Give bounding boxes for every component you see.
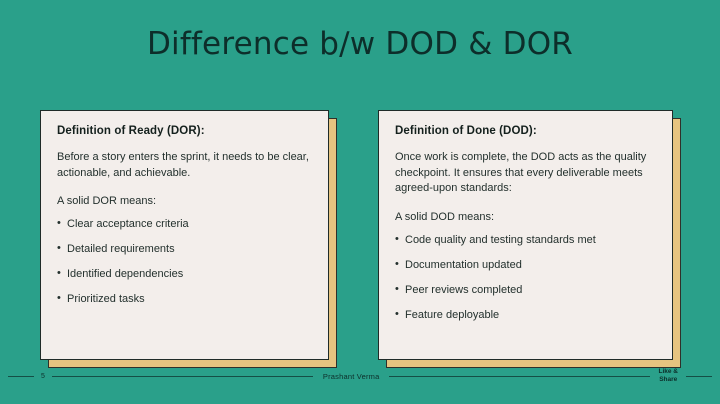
list-item: Documentation updated (395, 258, 656, 272)
card-subheading-dod: A solid DOD means: (395, 211, 656, 223)
footer-rule-start (8, 376, 34, 377)
footer-rule-right (389, 376, 650, 377)
author-name: Prashant Verma (313, 372, 390, 381)
footer-rule-left (52, 376, 313, 377)
footer-rule-end (686, 376, 712, 377)
like-and-share-line-1: Like & (658, 368, 678, 376)
page-title: Difference b/w DOD & DOR (0, 26, 720, 62)
bullet-list-dod: Code quality and testing standards met D… (395, 233, 656, 322)
card-definition-of-done: Definition of Done (DOD): Once work is c… (378, 110, 673, 360)
bullet-list-dor: Clear acceptance criteria Detailed requi… (57, 217, 312, 306)
card-paragraph-dod: Once work is complete, the DOD acts as t… (395, 150, 656, 197)
list-item: Detailed requirements (57, 242, 312, 256)
like-and-share-line-2: Share (658, 376, 678, 384)
slide-canvas: Difference b/w DOD & DOR Definition of R… (0, 0, 720, 404)
list-item: Peer reviews completed (395, 283, 656, 297)
card-heading-dor: Definition of Ready (DOR): (57, 125, 312, 137)
list-item: Prioritized tasks (57, 292, 312, 306)
list-item: Clear acceptance criteria (57, 217, 312, 231)
list-item: Code quality and testing standards met (395, 233, 656, 247)
card-body-left: Definition of Ready (DOR): Before a stor… (40, 110, 329, 360)
card-paragraph-dor: Before a story enters the sprint, it nee… (57, 150, 312, 181)
page-number: 5 (34, 373, 52, 380)
card-subheading-dor: A solid DOR means: (57, 195, 312, 207)
slide-footer: 5 Prashant Verma Like & Share (0, 364, 720, 388)
like-and-share-label[interactable]: Like & Share (650, 368, 686, 384)
list-item: Feature deployable (395, 308, 656, 322)
card-body-right: Definition of Done (DOD): Once work is c… (378, 110, 673, 360)
card-definition-of-ready: Definition of Ready (DOR): Before a stor… (40, 110, 329, 360)
list-item: Identified dependencies (57, 267, 312, 281)
card-heading-dod: Definition of Done (DOD): (395, 125, 656, 137)
